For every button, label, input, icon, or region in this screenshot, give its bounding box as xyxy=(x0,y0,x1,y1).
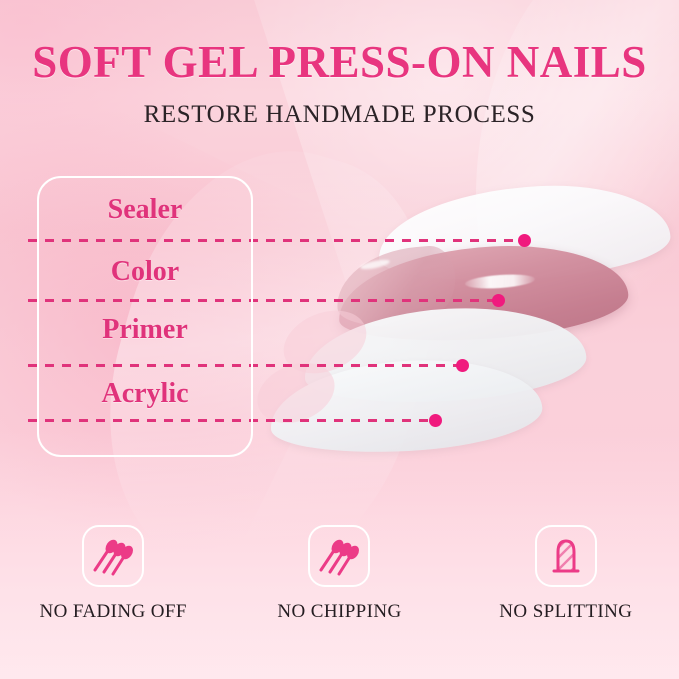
feature-no-chipping: NO CHIPPING xyxy=(226,525,452,623)
striped-nail-icon xyxy=(535,525,597,587)
three-nails-icon xyxy=(82,525,144,587)
layer-label-color: Color xyxy=(37,256,253,288)
connector-dot-acrylic xyxy=(429,414,442,427)
layer-label-acrylic: Acrylic xyxy=(37,378,253,410)
page-subtitle: RESTORE HANDMADE PROCESS xyxy=(0,101,679,129)
layer-label-sealer: Sealer xyxy=(37,194,253,226)
feature-label: NO SPLITTING xyxy=(499,601,632,623)
product-infographic: SOFT GEL PRESS-ON NAILS RESTORE HANDMADE… xyxy=(0,0,679,679)
feature-no-fading-off: NO FADING OFF xyxy=(0,525,226,623)
feature-label: NO FADING OFF xyxy=(39,601,186,623)
three-nails-icon xyxy=(308,525,370,587)
feature-label: NO CHIPPING xyxy=(277,601,401,623)
feature-no-splitting: NO SPLITTING xyxy=(453,525,679,623)
page-title: SOFT GEL PRESS-ON NAILS xyxy=(0,36,679,88)
connector-dot-primer xyxy=(456,359,469,372)
connector-dot-color xyxy=(492,294,505,307)
feature-row: NO FADING OFF NO CHIPPING xyxy=(0,525,679,623)
layer-label-primer: Primer xyxy=(37,314,253,346)
connector-dot-sealer xyxy=(518,234,531,247)
